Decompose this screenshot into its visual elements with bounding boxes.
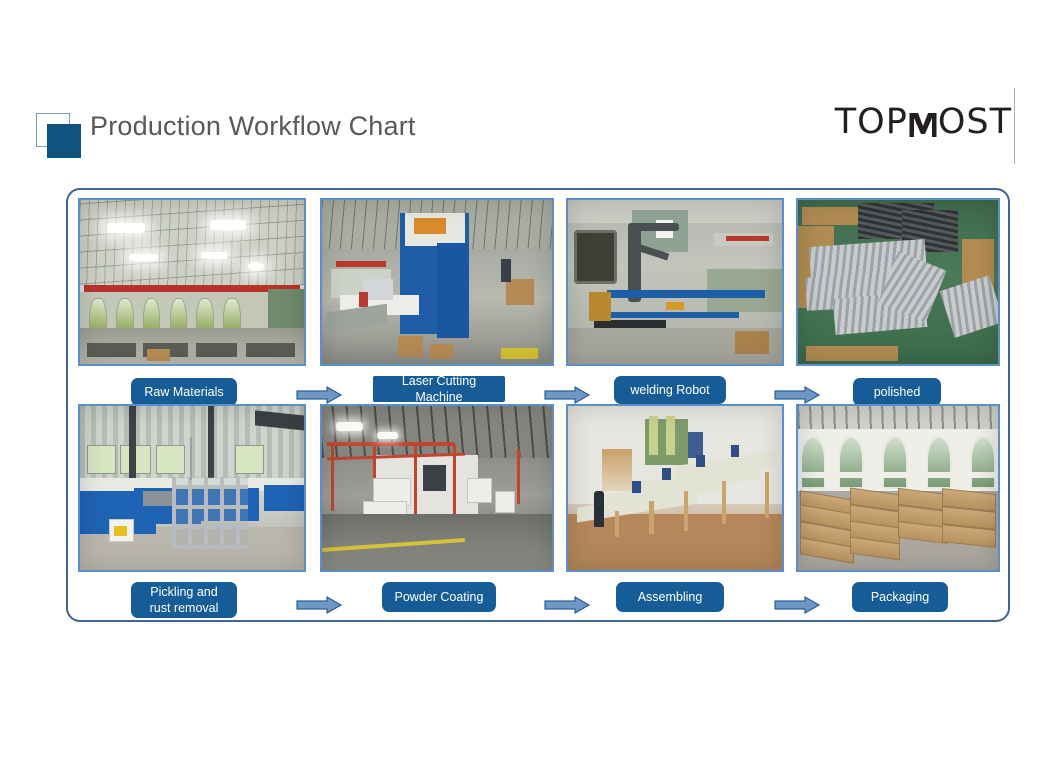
workflow-stage-laser-cutting[interactable]: Laser Cutting Machine (320, 198, 556, 398)
workflow-stage-packaging[interactable]: Packaging (796, 404, 1002, 608)
brand-m-icon (908, 109, 938, 135)
workflow-panel: Raw Materials (66, 188, 1010, 622)
brand-prefix: TOP (835, 105, 908, 140)
page-title: Production Workflow Chart (90, 111, 416, 142)
workflow-stage-assembling[interactable]: Assembling (566, 404, 786, 608)
workflow-row-1: Raw Materials (68, 198, 1012, 406)
stage-label-welding-robot: welding Robot (614, 376, 726, 404)
stage-label-polished: polished (853, 378, 941, 406)
powder-coating-photo (320, 404, 554, 572)
welding-robot-photo (566, 198, 784, 366)
laser-cutting-machine-photo (320, 198, 554, 366)
stage-label-pickling: Pickling and rust removal (131, 582, 237, 618)
stage-label-raw-materials: Raw Materials (131, 378, 237, 406)
assembling-photo (566, 404, 784, 572)
logo-solid-square-icon (47, 124, 81, 158)
workflow-stage-welding-robot[interactable]: welding Robot (566, 198, 786, 398)
workflow-stage-powder-coating[interactable]: Powder Coating (320, 404, 556, 608)
stage-label-packaging: Packaging (852, 582, 948, 612)
brand-logo: TOP OST (835, 101, 1012, 143)
workflow-stage-polished[interactable]: polished (796, 198, 1002, 398)
page-header: Production Workflow Chart TOP OST (0, 0, 1060, 180)
header-divider (1014, 88, 1015, 164)
stage-label-powder-coating: Powder Coating (382, 582, 496, 612)
workflow-stage-raw-materials[interactable]: Raw Materials (78, 198, 308, 398)
brand-suffix: OST (938, 105, 1012, 140)
raw-materials-warehouse-photo (78, 198, 306, 366)
stage-label-assembling: Assembling (616, 582, 724, 612)
stage-label-laser-cutting: Laser Cutting Machine (373, 376, 505, 402)
workflow-row-2: Pickling and rust removal (68, 404, 1012, 616)
packaging-photo (796, 404, 1000, 572)
polished-parts-photo (796, 198, 1000, 366)
pickling-rust-removal-photo (78, 404, 306, 572)
workflow-stage-pickling[interactable]: Pickling and rust removal (78, 404, 308, 608)
